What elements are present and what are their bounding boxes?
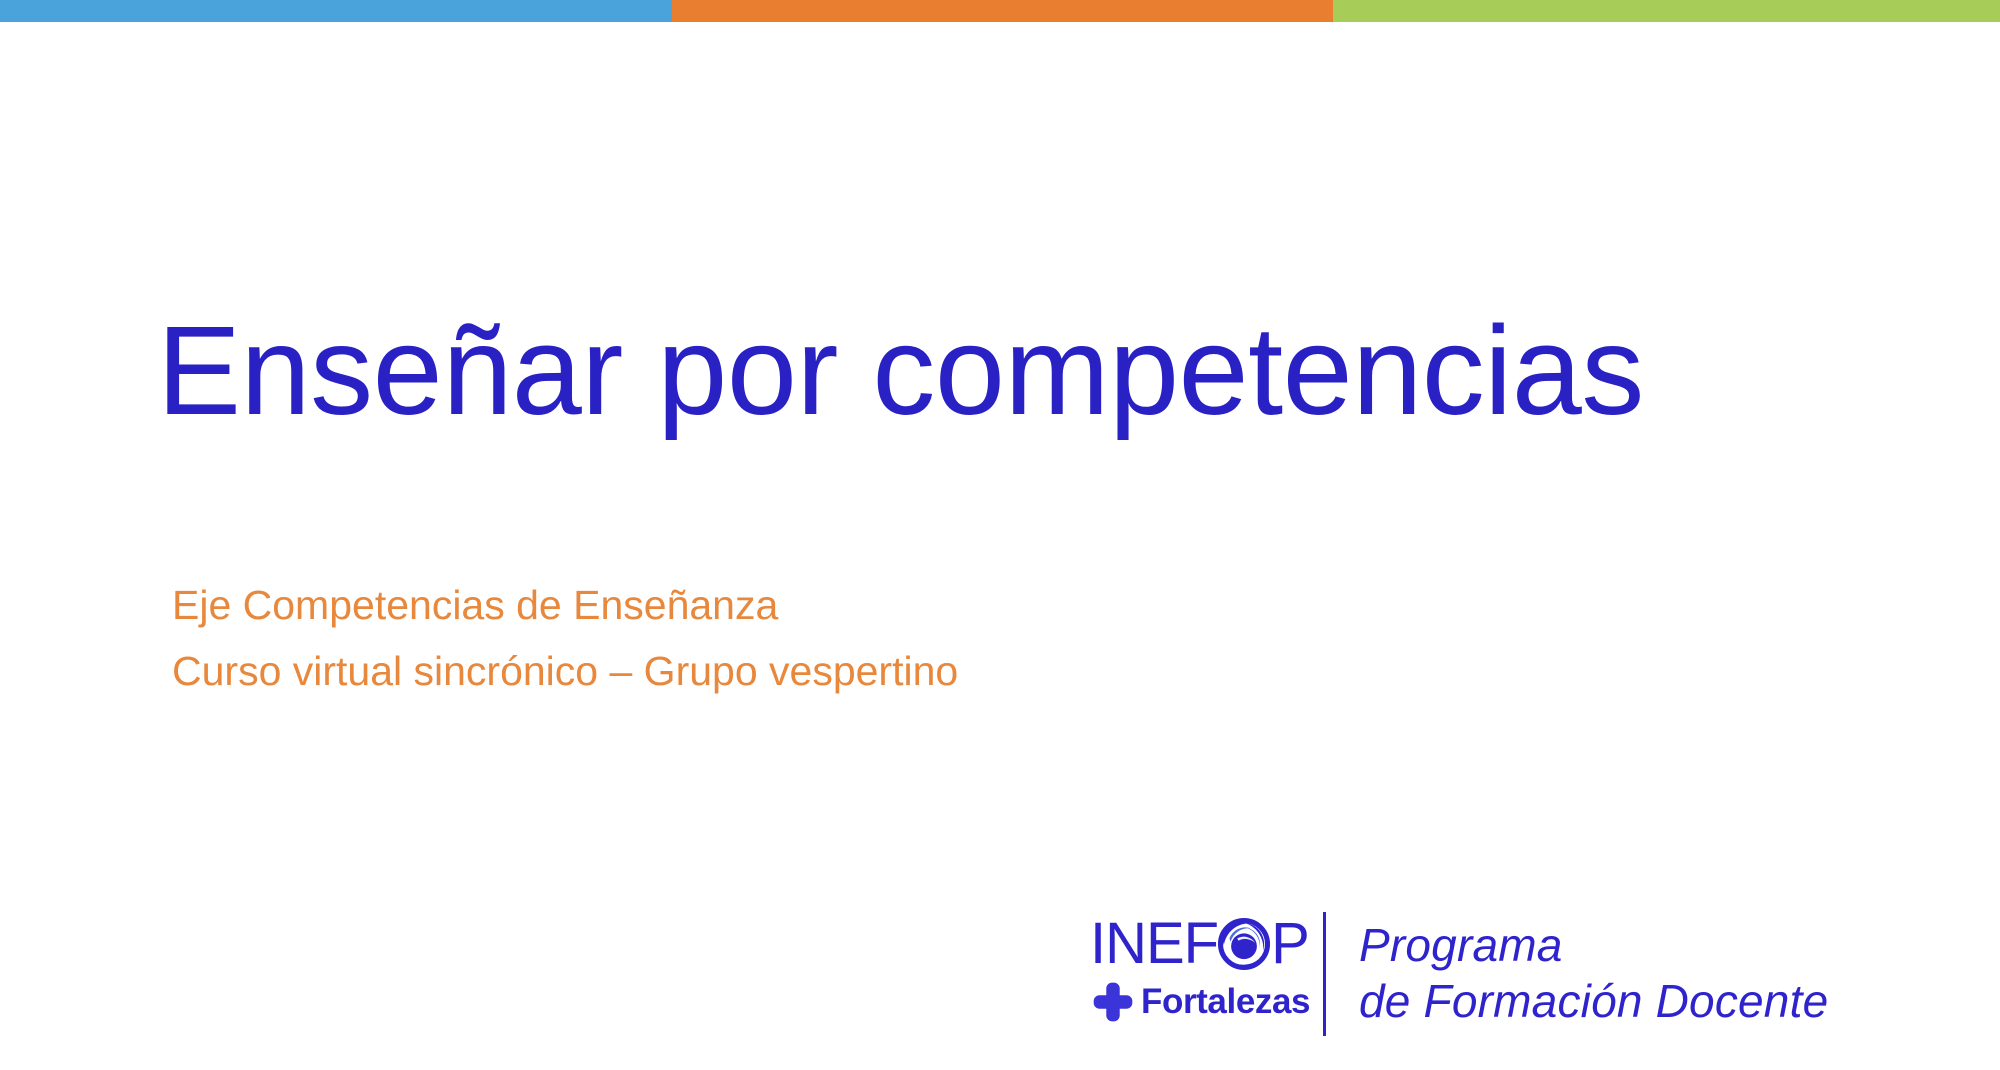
logo-lockup: INEF P Fortalezas [1090, 908, 1828, 1038]
inefop-letters-before: INEF [1090, 916, 1218, 972]
slide-subtitle: Eje Competencias de Enseñanza Curso virt… [172, 572, 1472, 705]
color-band-green [1333, 0, 2000, 22]
fortalezas-row: Fortalezas [1092, 978, 1310, 1026]
fortalezas-label: Fortalezas [1141, 983, 1310, 1021]
top-color-bar [0, 0, 2000, 22]
programa-formacion-docente: Programa de Formación Docente [1359, 917, 1828, 1029]
inefop-wordmark: INEF P [1090, 916, 1309, 972]
logo-divider [1323, 912, 1326, 1036]
slide-title: Enseñar por competencias [157, 300, 1857, 441]
programa-line-2: de Formación Docente [1359, 973, 1828, 1029]
inefop-logo: INEF P Fortalezas [1090, 914, 1295, 1032]
plus-cross-icon [1092, 981, 1134, 1023]
inefop-letters-after: P [1271, 916, 1309, 972]
slide-root: Enseñar por competencias Eje Competencia… [0, 0, 2000, 1070]
programa-line-1: Programa [1359, 917, 1828, 973]
color-band-blue [0, 0, 672, 22]
inefop-swirl-o-icon [1216, 916, 1272, 972]
color-band-orange [672, 0, 1333, 22]
subtitle-line-2: Curso virtual sincrónico – Grupo vespert… [172, 638, 1472, 704]
subtitle-line-1: Eje Competencias de Enseñanza [172, 572, 1472, 638]
